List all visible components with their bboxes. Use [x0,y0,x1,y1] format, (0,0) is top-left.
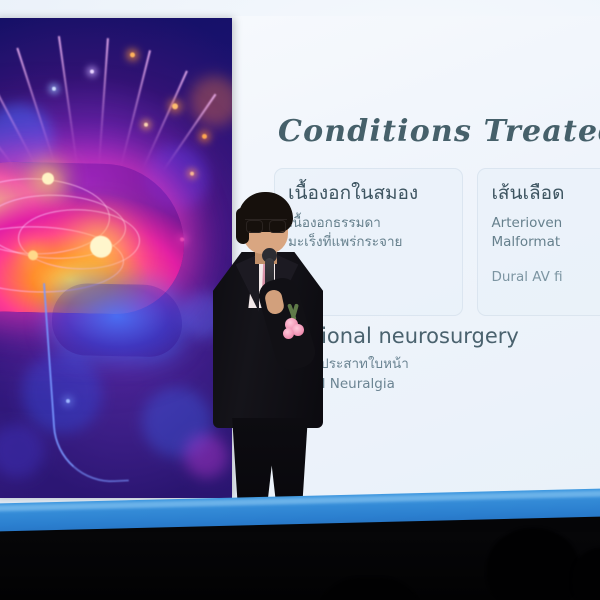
spark-dot [172,103,178,109]
spark-dot [130,52,135,57]
slide-title: Conditions Treated [278,114,600,149]
spark-dot [144,123,148,127]
condition-sub-line: Malformat [491,233,600,252]
condition-sub-line: Arterioven [491,214,600,233]
spark-dot [202,134,207,139]
spark-dot [90,70,94,74]
light-ray [98,38,109,166]
brain-hotspot [90,236,112,258]
brain-illustration-panel [0,18,232,498]
spark-dot [52,87,56,91]
speaker-figure [205,186,340,526]
conference-photo-scene: Conditions Treated เนื้องอกในสมอง เนื้อง… [0,0,600,600]
condition-extra-line: Dural AV fi [491,268,600,287]
condition-card-heading: เส้นเลือด [491,182,600,205]
brain-hotspot [28,250,38,260]
glow-blob [0,423,44,478]
audience-silhouette [487,528,579,600]
light-ray [120,50,151,166]
spark-dot [190,172,194,176]
condition-card-vascular: เส้นเลือด Arterioven Malformat Dural AV … [477,168,600,316]
brain-stem [43,280,129,485]
brain-illustration-inner [0,18,232,496]
light-ray [58,36,78,165]
condition-card-subtext: Arterioven Malformat [491,214,600,252]
brain-hotspot [42,173,54,185]
corsage-petal [283,328,294,339]
corsage-flower [281,304,307,346]
glasses-icon [245,219,287,232]
